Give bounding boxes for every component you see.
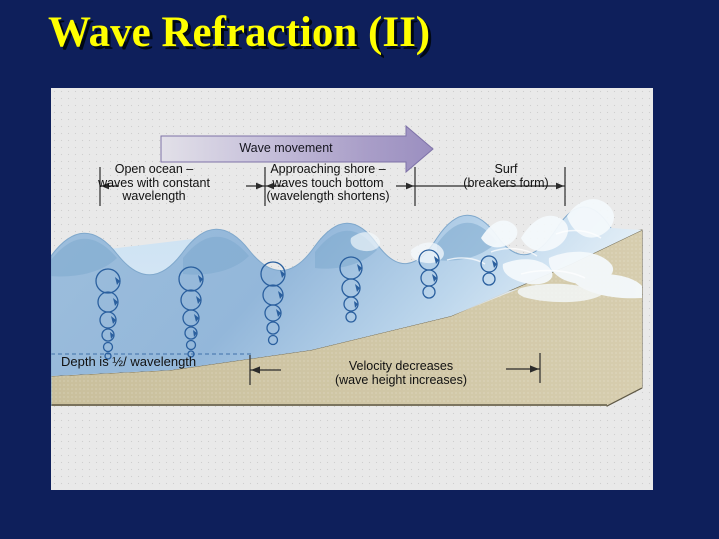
zone-label-approaching-shore: Approaching shore – waves touch bottom (… <box>238 163 418 204</box>
slide-root: Wave Refraction (II) <box>0 0 719 539</box>
zone-label-line: Open ocean – <box>69 163 239 177</box>
figure-panel: Wave movement Open ocean – waves with co… <box>51 88 653 490</box>
velocity-label: Velocity decreases (wave height increase… <box>281 360 521 387</box>
page-title: Wave Refraction (II) <box>0 8 719 58</box>
zone-label-line: wavelength <box>69 190 239 204</box>
zone-label-line: (wavelength shortens) <box>238 190 418 204</box>
zone-label-surf: Surf (breakers form) <box>421 163 591 190</box>
zone-label-line: Surf <box>421 163 591 177</box>
zone-label-line: (breakers form) <box>421 177 591 191</box>
velocity-label-line: Velocity decreases <box>281 360 521 374</box>
zone-label-line: waves with constant <box>69 177 239 191</box>
zone-label-line: waves touch bottom <box>238 177 418 191</box>
wave-movement-label: Wave movement <box>171 142 401 156</box>
depth-label: Depth is ½/ wavelength <box>61 355 271 369</box>
zone-label-open-ocean: Open ocean – waves with constant wavelen… <box>69 163 239 204</box>
zone-label-line: Approaching shore – <box>238 163 418 177</box>
velocity-label-line: (wave height increases) <box>281 374 521 388</box>
